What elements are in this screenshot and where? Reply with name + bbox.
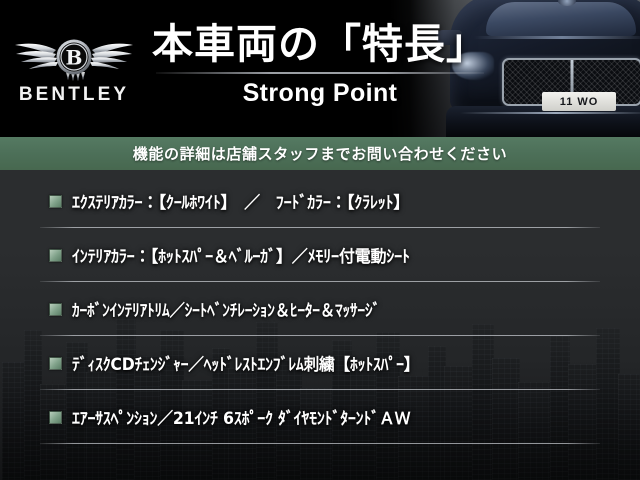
- list-item-label: ｴｱｰｻｽﾍﾟﾝｼｮﾝ／21ｲﾝﾁ 6ｽﾎﾟｰｸ ﾀﾞｲﾔﾓﾝﾄﾞﾀｰﾝﾄﾞＡＷ: [72, 405, 410, 429]
- list-item-label: ｶｰﾎﾞﾝｲﾝﾃﾘｱﾄﾘﾑ／ｼｰﾄﾍﾞﾝﾁﾚｰｼｮﾝ＆ﾋｰﾀｰ＆ﾏｯｻｰｼﾞ: [72, 297, 380, 321]
- car-license-plate-text: 11 WO: [560, 96, 599, 108]
- feature-list: ｴｸｽﾃﾘｱｶﾗｰ：【ｸｰﾙﾎﾜｲﾄ】 ／ ﾌｰﾄﾞｶﾗｰ：【ｸﾗﾚｯﾄ】 ｲﾝ…: [0, 170, 640, 480]
- promo-slide: 11 WO: [0, 0, 640, 480]
- list-divider: [40, 443, 600, 444]
- contact-banner-text: 機能の詳細は店舗スタッフまでお問い合わせください: [133, 143, 507, 164]
- list-item-label: ｴｸｽﾃﾘｱｶﾗｰ：【ｸｰﾙﾎﾜｲﾄ】 ／ ﾌｰﾄﾞｶﾗｰ：【ｸﾗﾚｯﾄ】: [72, 189, 409, 213]
- header-title-stack: 本車両の「特長」 Strong Point: [152, 22, 488, 108]
- page-title-jp: 本車両の「特長」: [152, 22, 488, 66]
- green-square-bullet-icon: [49, 303, 62, 316]
- page-title-en: Strong Point: [152, 79, 488, 108]
- car-hood-highlight: [474, 36, 640, 39]
- svg-text:B: B: [66, 46, 83, 70]
- list-item-label: ｲﾝﾃﾘｱｶﾗｰ：【ﾎｯﾄｽﾊﾟｰ＆ﾍﾞﾙｰｶﾞ】／ﾒﾓﾘｰ付電動ｼｰﾄ: [72, 243, 410, 267]
- features-section: ｴｸｽﾃﾘｱｶﾗｰ：【ｸｰﾙﾎﾜｲﾄ】 ／ ﾌｰﾄﾞｶﾗｰ：【ｸﾗﾚｯﾄ】 ｲﾝ…: [0, 170, 640, 480]
- list-item-label: ﾃﾞｨｽｸCDﾁｪﾝｼﾞｬｰ／ﾍｯﾄﾞﾚｽﾄｴﾝﾌﾞﾚﾑ刺繍【ﾎｯﾄｽﾊﾟｰ】: [72, 351, 419, 375]
- car-windshield: [486, 2, 636, 36]
- title-divider: [156, 72, 484, 74]
- list-item: ｲﾝﾃﾘｱｶﾗｰ：【ﾎｯﾄｽﾊﾟｰ＆ﾍﾞﾙｰｶﾞ】／ﾒﾓﾘｰ付電動ｼｰﾄ: [0, 228, 640, 282]
- list-item: ｶｰﾎﾞﾝｲﾝﾃﾘｱﾄﾘﾑ／ｼｰﾄﾍﾞﾝﾁﾚｰｼｮﾝ＆ﾋｰﾀｰ＆ﾏｯｻｰｼﾞ: [0, 282, 640, 336]
- green-square-bullet-icon: [49, 195, 62, 208]
- bentley-wordmark: BENTLEY: [19, 84, 129, 106]
- car-chrome-strip: [460, 112, 640, 114]
- bentley-logo-block: B BENTLEY: [8, 28, 140, 120]
- car-license-plate: 11 WO: [542, 92, 616, 111]
- header-banner: 11 WO: [0, 0, 640, 137]
- green-square-bullet-icon: [49, 249, 62, 262]
- bentley-winged-b-icon: B: [10, 28, 138, 82]
- list-item: ｴｱｰｻｽﾍﾟﾝｼｮﾝ／21ｲﾝﾁ 6ｽﾎﾟｰｸ ﾀﾞｲﾔﾓﾝﾄﾞﾀｰﾝﾄﾞＡＷ: [0, 390, 640, 444]
- contact-banner: 機能の詳細は店舗スタッフまでお問い合わせください: [0, 137, 640, 170]
- list-item: ﾃﾞｨｽｸCDﾁｪﾝｼﾞｬｰ／ﾍｯﾄﾞﾚｽﾄｴﾝﾌﾞﾚﾑ刺繍【ﾎｯﾄｽﾊﾟｰ】: [0, 336, 640, 390]
- green-square-bullet-icon: [49, 357, 62, 370]
- list-item: ｴｸｽﾃﾘｱｶﾗｰ：【ｸｰﾙﾎﾜｲﾄ】 ／ ﾌｰﾄﾞｶﾗｰ：【ｸﾗﾚｯﾄ】: [0, 174, 640, 228]
- green-square-bullet-icon: [49, 411, 62, 424]
